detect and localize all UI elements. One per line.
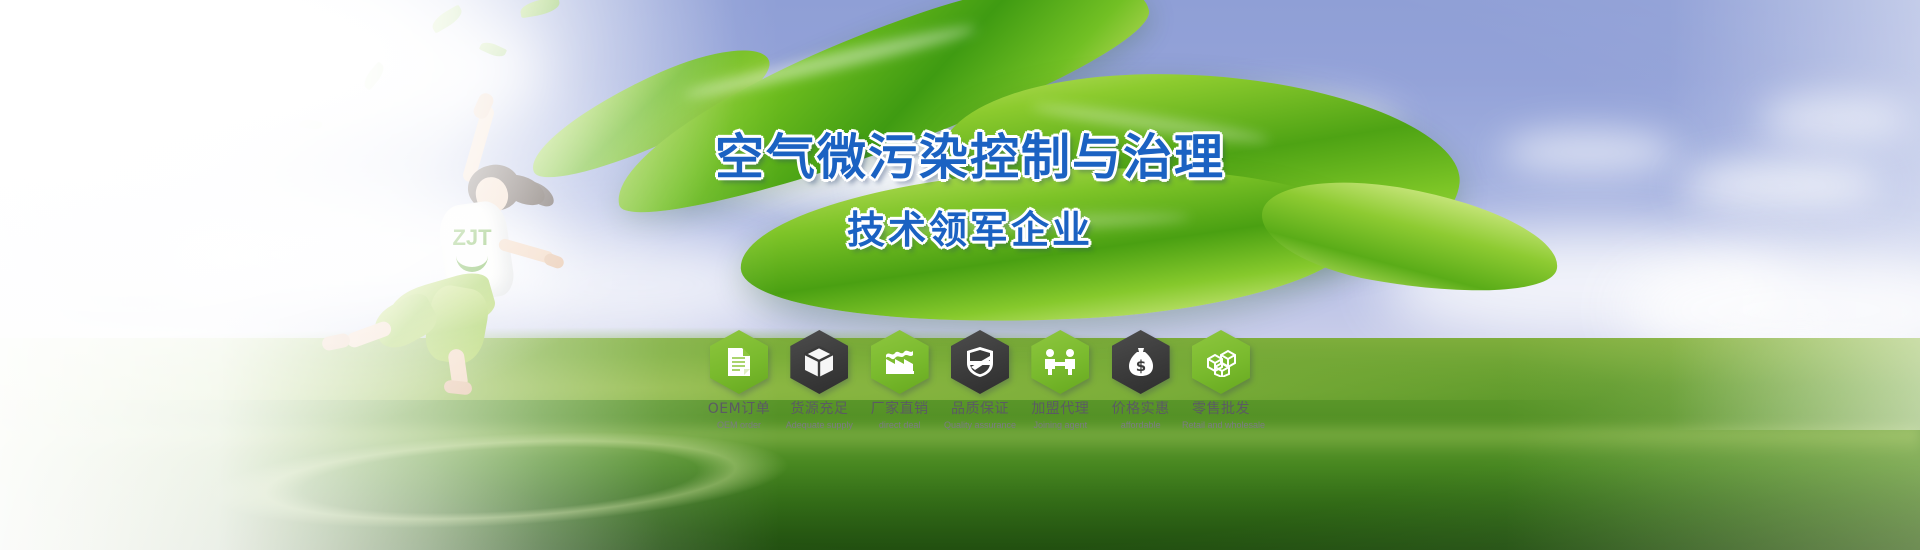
feature-label-en: affordable	[1102, 420, 1180, 431]
feature-item-adequate-supply[interactable]: 货源充足 Adequate supply	[780, 330, 858, 431]
hex-badge	[871, 330, 929, 394]
cube-icon	[804, 346, 834, 378]
feature-label-cn: OEM订单	[700, 401, 778, 417]
headline-block: 空气微污染控制与治理 技术领军企业	[690, 118, 1250, 254]
feature-item-retail-wholesale[interactable]: 零售批发 Retail and wholesale	[1182, 330, 1260, 431]
feature-item-quality-assurance[interactable]: 品质保证 Quality assurance	[941, 330, 1019, 431]
feature-item-joining-agent[interactable]: 加盟代理 Joining agent	[1021, 330, 1099, 431]
feature-label-en: Joining agent	[1021, 420, 1099, 431]
feature-label-cn: 品质保证	[941, 401, 1019, 417]
feature-list: OEM订单 OEM order 货源充足 Adequate supply	[700, 330, 1260, 431]
feature-item-direct-deal[interactable]: 厂家直销 direct deal	[861, 330, 939, 431]
headline-line2: 技术领军企业	[690, 199, 1250, 254]
feature-label-cn: 厂家直销	[861, 401, 939, 417]
svg-text:$: $	[1135, 357, 1145, 375]
hex-badge	[1031, 330, 1089, 394]
headline-line1: 空气微污染控制与治理	[690, 118, 1250, 189]
feature-label-en: Quality assurance	[941, 420, 1019, 431]
right-haze-overlay	[1560, 0, 1920, 430]
hex-badge	[1192, 330, 1250, 394]
promo-banner: ZJT 空气微污染控制与治理 技术领军企业	[0, 0, 1920, 550]
hex-badge	[790, 330, 848, 394]
feature-label-en: Retail and wholesale	[1182, 420, 1260, 431]
feature-label-en: OEM order	[700, 420, 778, 431]
hex-badge	[710, 330, 768, 394]
feature-item-oem-order[interactable]: OEM订单 OEM order	[700, 330, 778, 431]
shield-icon	[966, 346, 994, 378]
factory-icon	[884, 349, 916, 375]
feature-item-affordable[interactable]: $ 价格实惠 affordable	[1102, 330, 1180, 431]
handshake-icon	[1043, 348, 1077, 376]
feature-label-cn: 货源充足	[780, 401, 858, 417]
feature-label-cn: 加盟代理	[1021, 401, 1099, 417]
feature-label-cn: 零售批发	[1182, 401, 1260, 417]
document-icon	[726, 347, 752, 377]
feature-label-cn: 价格实惠	[1102, 401, 1180, 417]
feature-label-en: Adequate supply	[780, 420, 858, 431]
feature-label-en: direct deal	[861, 420, 939, 431]
left-haze-overlay	[0, 0, 780, 550]
money-bag-icon: $	[1127, 346, 1155, 378]
hex-badge: $	[1112, 330, 1170, 394]
boxes-icon	[1205, 347, 1237, 377]
hex-badge	[951, 330, 1009, 394]
